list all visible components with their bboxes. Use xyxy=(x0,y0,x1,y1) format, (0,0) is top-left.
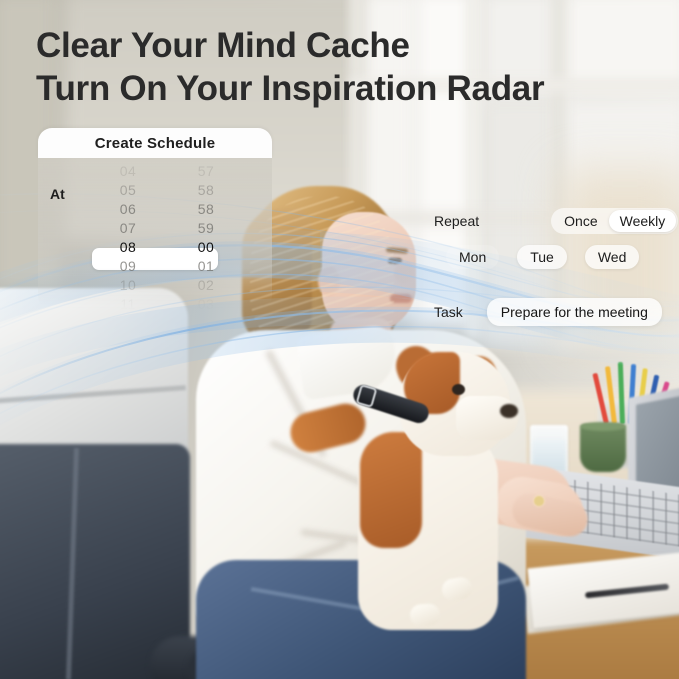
headline: Clear Your Mind Cache Turn On Your Inspi… xyxy=(36,24,656,111)
minute-option[interactable]: 03 xyxy=(198,295,215,310)
hour-option[interactable]: 10 xyxy=(120,276,137,295)
task-input[interactable]: Prepare for the meeting xyxy=(487,298,662,326)
dog-eye xyxy=(452,384,465,395)
card-body: At 04 05 06 07 08 09 10 11 57 58 58 59 xyxy=(38,158,272,310)
day-pill-wed[interactable]: Wed xyxy=(585,245,640,269)
green-mug xyxy=(580,424,626,472)
headline-line-1: Clear Your Mind Cache xyxy=(36,26,410,65)
time-picker[interactable]: 04 05 06 07 08 09 10 11 57 58 58 59 00 0… xyxy=(92,162,272,310)
task-label: Task xyxy=(434,304,463,320)
card-header: Create Schedule xyxy=(38,128,272,158)
repeat-segmented-control[interactable]: Once Weekly xyxy=(551,208,678,234)
hour-option-selected[interactable]: 08 xyxy=(120,238,137,257)
day-pill-mon[interactable]: Mon xyxy=(446,245,499,269)
at-label: At xyxy=(50,186,65,202)
dog-body-patch xyxy=(360,432,422,548)
ring xyxy=(534,496,544,506)
minute-option[interactable]: 58 xyxy=(198,181,215,200)
minute-option[interactable]: 59 xyxy=(198,219,215,238)
card-title: Create Schedule xyxy=(95,135,216,152)
dog-snout xyxy=(456,396,518,440)
minute-option[interactable]: 58 xyxy=(198,200,215,219)
day-pill-tue[interactable]: Tue xyxy=(517,245,567,269)
task-row: Task Prepare for the meeting xyxy=(434,298,662,326)
hour-option[interactable]: 04 xyxy=(120,162,137,181)
create-schedule-card: Create Schedule At 04 05 06 07 08 09 10 … xyxy=(38,128,272,310)
repeat-option-once[interactable]: Once xyxy=(553,210,608,232)
minute-wheel[interactable]: 57 58 58 59 00 01 02 03 xyxy=(178,162,234,310)
hour-option[interactable]: 07 xyxy=(120,219,137,238)
woman-nose xyxy=(394,262,414,284)
mug-rim xyxy=(580,422,626,431)
day-selector: Mon Tue Wed xyxy=(446,245,639,269)
hour-option[interactable]: 09 xyxy=(120,257,137,276)
hour-wheel[interactable]: 04 05 06 07 08 09 10 11 xyxy=(100,162,156,310)
hour-option[interactable]: 06 xyxy=(120,200,137,219)
hour-option[interactable]: 11 xyxy=(120,295,136,310)
promo-banner: Clear Your Mind Cache Turn On Your Inspi… xyxy=(0,0,679,679)
dog-nose xyxy=(500,404,518,418)
minute-option[interactable]: 57 xyxy=(198,162,215,181)
repeat-option-weekly[interactable]: Weekly xyxy=(609,210,677,232)
hour-option[interactable]: 05 xyxy=(120,181,137,200)
headline-line-2: Turn On Your Inspiration Radar xyxy=(36,67,656,110)
minute-option[interactable]: 01 xyxy=(198,257,215,276)
minute-option[interactable]: 02 xyxy=(198,276,215,295)
repeat-row: Repeat Once Weekly xyxy=(434,208,678,234)
minute-option-selected[interactable]: 00 xyxy=(198,238,215,257)
repeat-label: Repeat xyxy=(434,213,479,229)
